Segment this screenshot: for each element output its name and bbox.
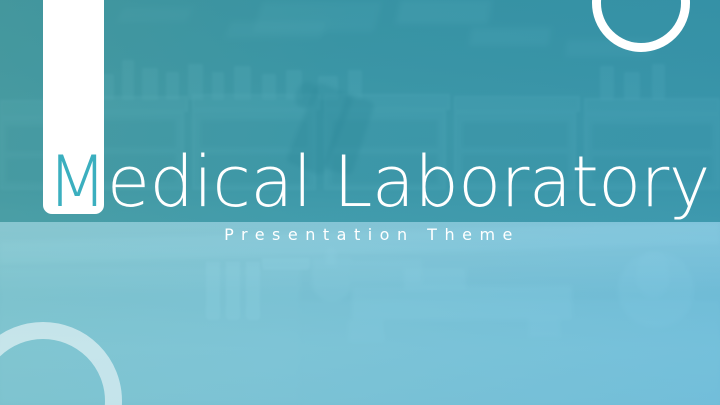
subtitle: Presentation Theme — [0, 225, 720, 244]
title-rest: edical Laboratory — [107, 141, 710, 223]
title-row: Medical Laboratory — [0, 140, 720, 224]
title-initial: M — [47, 141, 107, 223]
title-slide: Medical Laboratory Presentation Theme — [0, 0, 720, 405]
page-title: Medical Laboratory — [0, 140, 710, 224]
